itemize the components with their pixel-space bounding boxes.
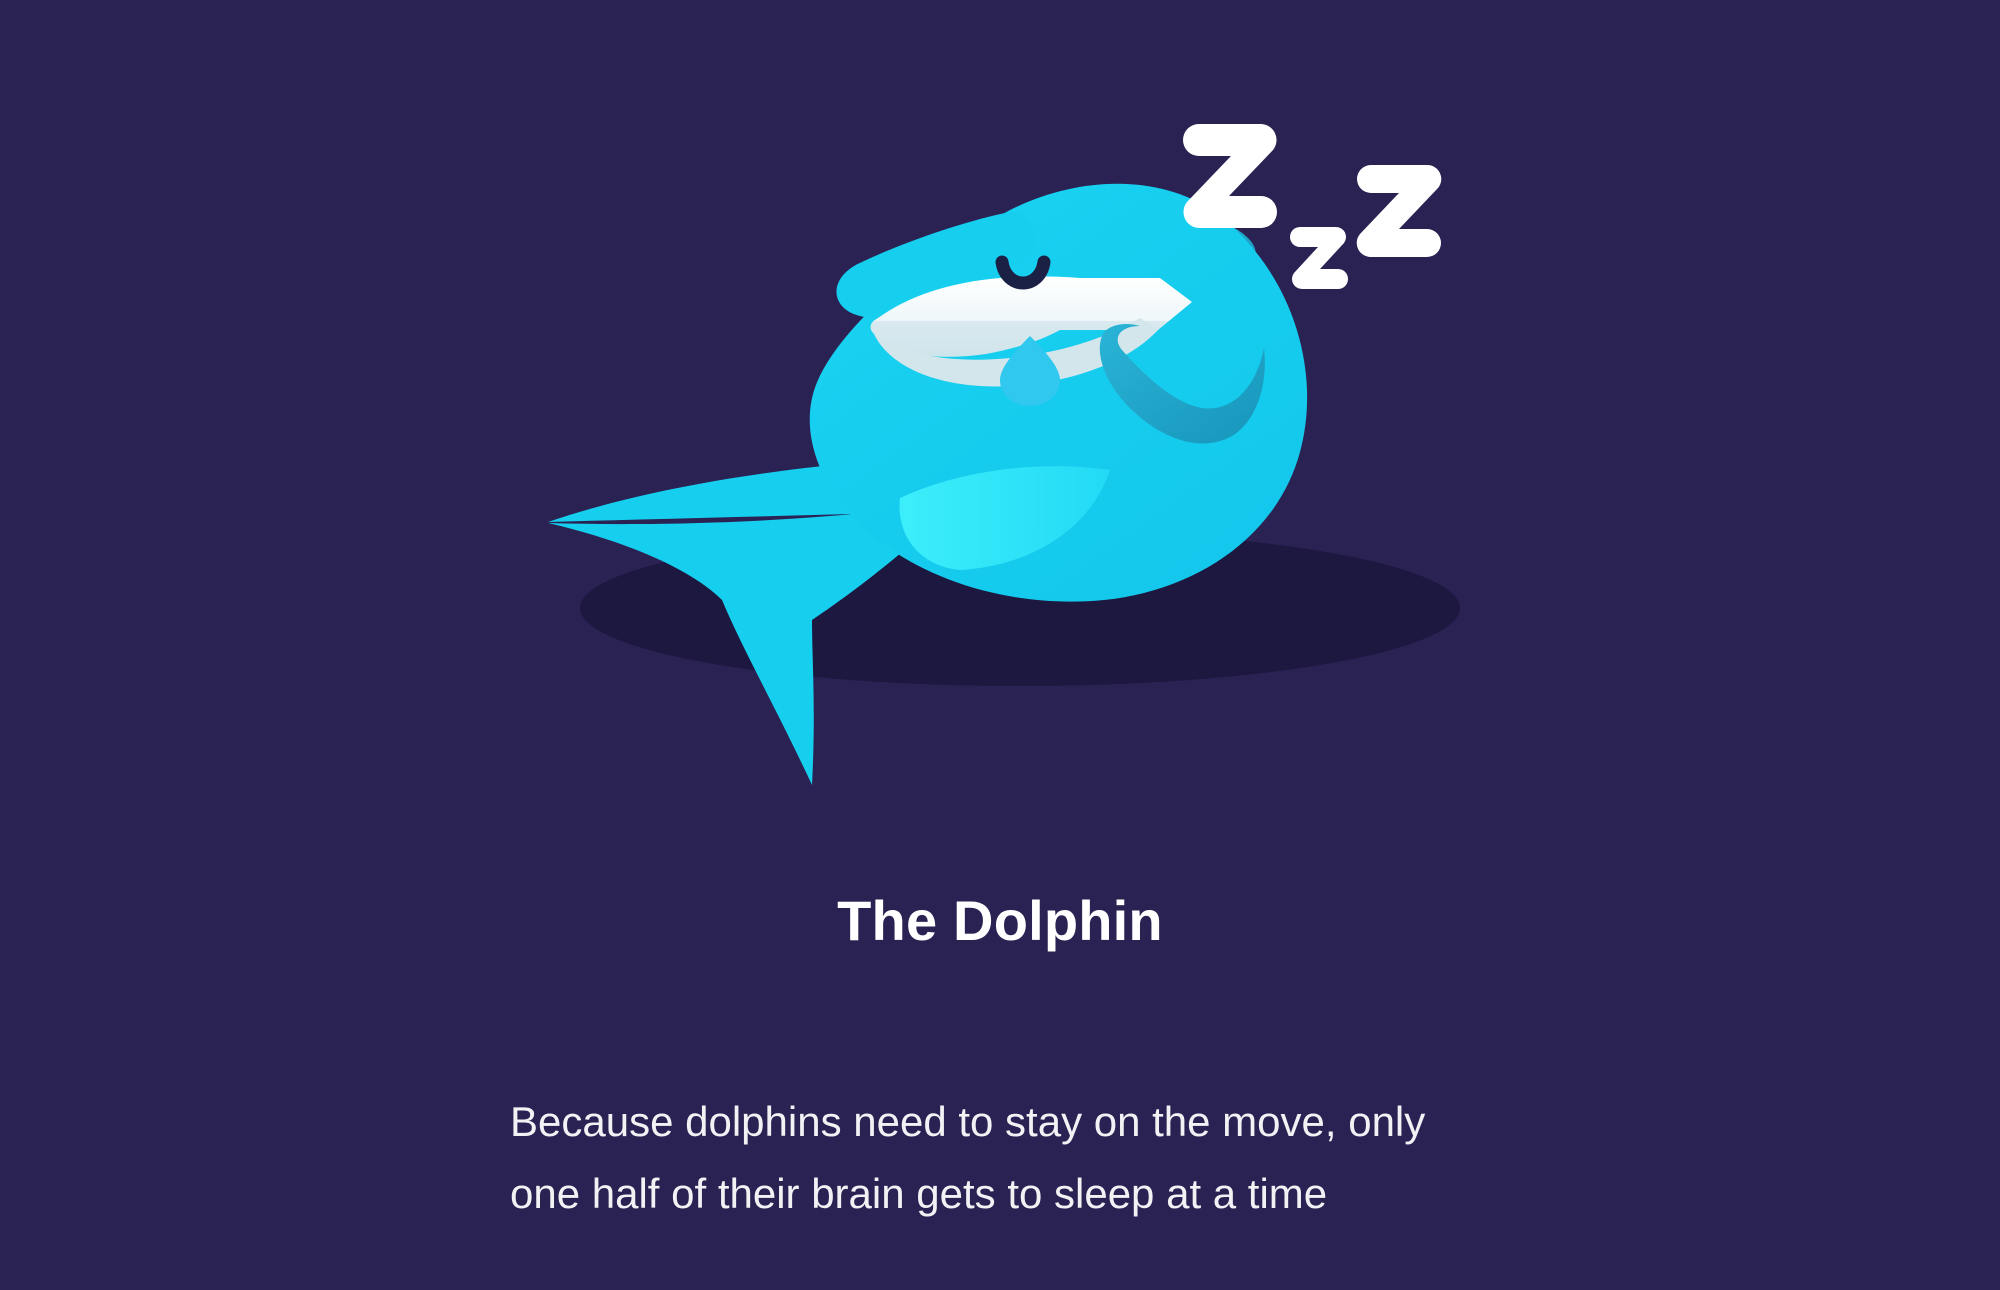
- zzz-large: [1183, 124, 1277, 228]
- page-title: The Dolphin: [837, 893, 1163, 949]
- caption-block: The Dolphin Because dolphins need to sta…: [0, 855, 2000, 1273]
- body: [810, 184, 1307, 602]
- zzz-small: [1290, 227, 1348, 289]
- body-row: Because dolphins need to stay on the mov…: [0, 1044, 2000, 1272]
- page-description: Because dolphins need to stay on the mov…: [510, 1086, 1490, 1230]
- zzz-medium: [1357, 165, 1442, 257]
- title-row: The Dolphin: [0, 855, 2000, 986]
- page-root: The Dolphin Because dolphins need to sta…: [0, 0, 2000, 1290]
- sleeping-dolphin-illustration: [0, 0, 2000, 810]
